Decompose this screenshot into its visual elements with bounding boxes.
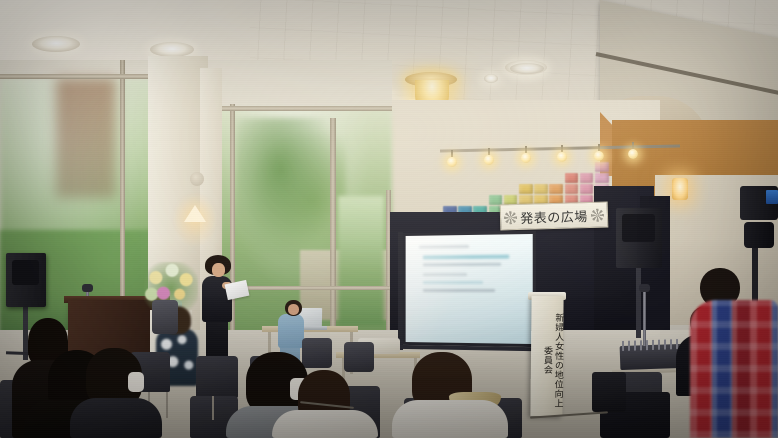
wall-clock-icon [190,172,204,186]
chair [344,342,374,372]
vertical-sign-text: 新婦人女性の地位向上委員会 [530,304,563,412]
audience-body [392,400,508,438]
chair-leg [212,396,214,420]
microphone-icon [82,284,93,292]
mosaic-tile [565,184,579,194]
spotlight-icon [447,150,457,167]
photograph-scene: 発表の広場 新婦人女性の地位向上委員会 [0,0,778,438]
presenter-face [212,263,225,277]
spotlight-icon [628,142,638,159]
star-icon [504,211,517,224]
downlight-icon [510,63,544,74]
mosaic-tile [595,173,609,183]
spotlight-icon [484,148,494,165]
mosaic-tile [580,173,594,183]
mosaic-tile [534,184,548,194]
spotlight-icon [521,146,531,163]
chair [196,356,238,398]
spotlight-icon [557,145,567,162]
equipment-case [592,372,626,412]
stage-banner: 発表の広場 [500,201,609,230]
plaid-shirt-attendee [690,300,778,438]
chair [302,338,332,368]
audience-body [272,410,378,438]
projection-screen [403,231,536,347]
window-mullion [330,118,336,344]
mosaic-tile [580,184,594,194]
wall-sconce-icon [184,205,206,222]
mosaic-tile [565,173,579,183]
mosaic-tile [595,162,609,172]
speaker-cone [622,214,655,242]
mosaic-tile [549,184,563,194]
stage-banner-text: 発表の広場 [520,206,588,227]
downlight-icon [484,74,498,83]
camera-lens [744,222,774,248]
wall-sconce-icon [672,178,688,200]
downlight-icon [150,42,194,57]
mosaic-tile [519,184,533,194]
chair-leg [166,392,168,418]
audience-body [70,398,162,438]
spotlight-icon [594,144,604,161]
window-transom [218,106,392,111]
garden-view-far [338,196,384,326]
vertical-sign: 新婦人女性の地位向上委員会 [530,296,563,416]
face-mask [128,372,144,392]
star-icon [591,208,604,221]
operator-body [278,314,304,348]
screen-glare [406,234,533,344]
downlight-icon [32,36,80,52]
tree-trunk [56,78,116,198]
speaker-stand [636,266,641,338]
mixer-faders[interactable] [622,339,680,351]
speaker-cone [12,260,39,285]
operator-face [288,304,299,315]
microphone-stand [643,290,646,346]
mosaic-tile [489,195,503,205]
camera-lcd-screen [766,190,778,204]
chair [152,300,178,334]
microphone-icon [639,284,650,292]
